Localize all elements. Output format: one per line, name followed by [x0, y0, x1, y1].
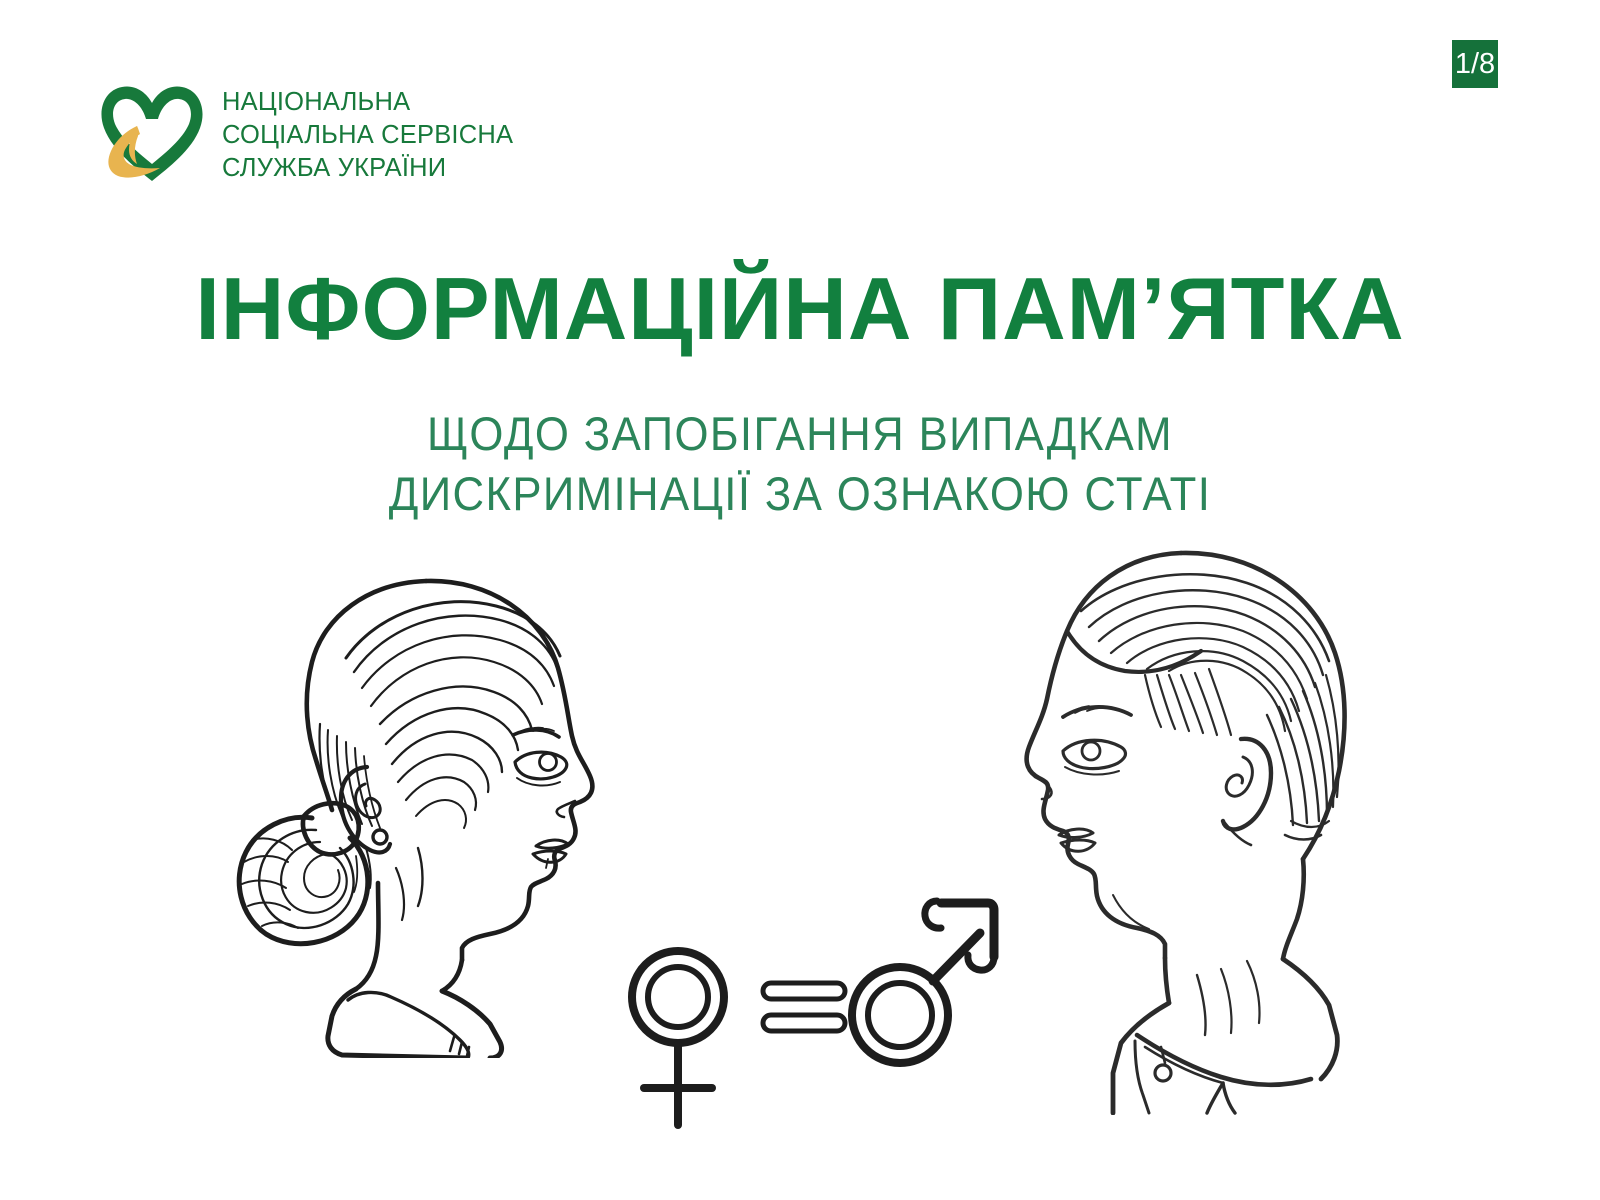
equals-symbol	[763, 983, 845, 1031]
mars-symbol	[852, 901, 994, 1063]
male-profile-illustration	[985, 535, 1370, 1115]
subtitle-line-1: ЩОДО ЗАПОБІГАННЯ ВИПАДКАМ	[56, 404, 1544, 464]
page-title: ІНФОРМАЦІЙНА ПАМ’ЯТКА	[0, 264, 1600, 354]
logo-line-2: СОЦІАЛЬНА СЕРВІСНА	[222, 120, 513, 150]
logo-line-1: НАЦІОНАЛЬНА	[222, 87, 513, 117]
page-subtitle: ЩОДО ЗАПОБІГАННЯ ВИПАДКАМ ДИСКРИМІНАЦІЇ …	[56, 404, 1544, 524]
heart-hand-logo-icon	[96, 82, 208, 186]
page-number-badge: 1/8	[1452, 40, 1498, 88]
subtitle-line-2: ДИСКРИМІНАЦІЇ ЗА ОЗНАКОЮ СТАТІ	[56, 464, 1544, 524]
organization-logo: НАЦІОНАЛЬНА СОЦІАЛЬНА СЕРВІСНА СЛУЖБА УК…	[96, 82, 513, 186]
gender-equality-symbols	[600, 875, 1000, 1135]
female-profile-illustration	[228, 548, 638, 1058]
slide-root: 1/8 НАЦІОНАЛЬНА СОЦІАЛЬНА СЕРВІСНА СЛУЖБ…	[0, 0, 1600, 1200]
venus-symbol	[632, 951, 724, 1125]
logo-line-3: СЛУЖБА УКРАЇНИ	[222, 153, 513, 183]
organization-name: НАЦІОНАЛЬНА СОЦІАЛЬНА СЕРВІСНА СЛУЖБА УК…	[222, 85, 513, 183]
